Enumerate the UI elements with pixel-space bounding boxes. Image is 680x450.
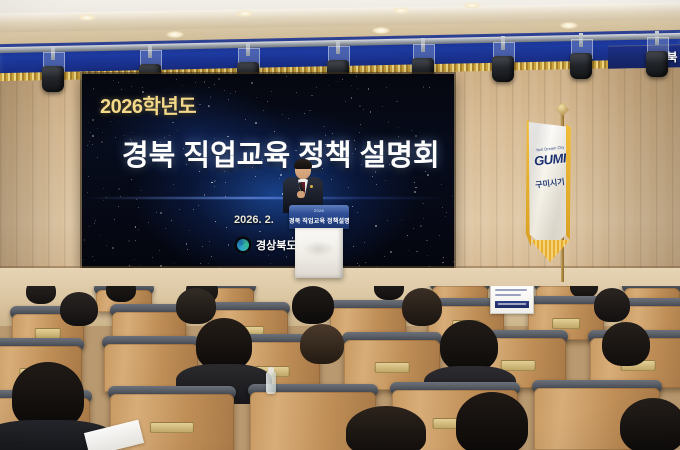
audience-head [176, 288, 216, 324]
podium-emblem-icon [303, 241, 335, 257]
downlight-icon [372, 27, 390, 34]
seat-number-plate [375, 362, 410, 373]
podium-line1: 2026 [289, 208, 349, 213]
wall-shadow-left [0, 60, 70, 290]
audience-head [402, 288, 442, 326]
audience-head [12, 362, 84, 428]
downlight-icon [236, 10, 254, 17]
stage-light-icon [646, 31, 668, 77]
downlight-icon [392, 7, 410, 14]
conference-photo: 경상북 경상북 2026학년도 경북 직업교육 정책 설명회 2026. 2. … [0, 0, 680, 450]
downlight-icon [78, 14, 96, 21]
stage-light-icon [492, 36, 514, 82]
slide-date-label: 2026. 2. [234, 214, 274, 226]
reserved-seat-sign [490, 286, 534, 314]
downlight-icon [463, 2, 481, 9]
stage-light-icon [42, 46, 64, 92]
gyeongbuk-logo-icon [234, 236, 252, 254]
audience-head [196, 318, 252, 370]
slide-logo: 경상북도 [234, 236, 296, 254]
audience-head [346, 406, 426, 450]
downlight-icon [560, 22, 578, 29]
seat-number-plate [150, 422, 194, 433]
light-streak [82, 197, 454, 199]
audience-head [456, 392, 528, 450]
audience-head [602, 322, 650, 366]
wall-shadow-right [560, 60, 680, 290]
audience-head [60, 292, 98, 326]
audience-area [0, 286, 680, 450]
slide-year-label: 2026학년도 [100, 90, 196, 119]
audience-head [292, 286, 334, 324]
audience-head [440, 320, 498, 372]
podium: 2026 경북 직업교육 정책설명회 [289, 205, 349, 277]
stage-light-icon [570, 33, 592, 79]
podium-banner: 2026 경북 직업교육 정책설명회 [289, 205, 349, 229]
seat-number-plate [552, 318, 580, 329]
audience-head [26, 286, 56, 304]
water-bottle [266, 372, 276, 394]
seat-number-plate [501, 360, 536, 371]
audience-head [594, 288, 630, 322]
lapel-pin-icon [310, 185, 313, 188]
downlight-icon [166, 31, 184, 38]
audience-head [300, 324, 344, 364]
podium-line2: 경북 직업교육 정책설명회 [289, 216, 349, 225]
wall-sign: 경상북 [608, 44, 680, 69]
audience-head [374, 286, 404, 300]
audience-head [620, 398, 680, 450]
projection-screen: 2026학년도 경북 직업교육 정책 설명회 2026. 2. 경상북도 [82, 74, 454, 268]
